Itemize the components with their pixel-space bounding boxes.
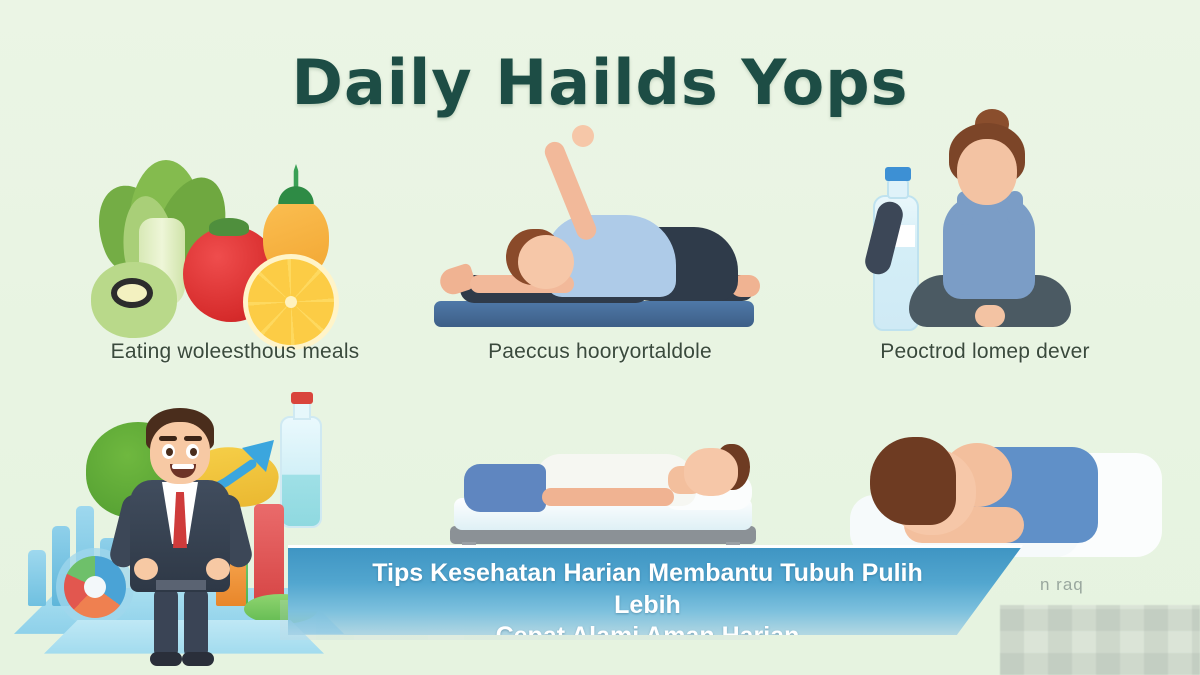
orange-slice-icon bbox=[243, 254, 339, 350]
banner-line-1: Tips Kesehatan Harian Membantu Tubuh Pul… bbox=[342, 558, 953, 621]
page-title: Daily Hailds Yops bbox=[0, 46, 1200, 119]
pixelated-censor-block bbox=[1000, 605, 1200, 675]
person-stretching-on-yoga-mat-illustration bbox=[430, 125, 760, 340]
tip-caption-nutrition: Eating woleesthous meals bbox=[60, 340, 410, 364]
woman-meditating-with-water-bottle-illustration bbox=[865, 115, 1120, 340]
blanket bbox=[464, 464, 546, 512]
businessman-character bbox=[110, 408, 250, 666]
avocado-icon bbox=[91, 262, 177, 338]
headline-banner: Tips Kesehatan Harian Membantu Tubuh Pul… bbox=[288, 545, 1023, 635]
tip-caption-hydration: Peoctrod lomep dever bbox=[830, 340, 1140, 364]
fruits-vegetables-illustration bbox=[75, 150, 365, 340]
poster-canvas: Daily Hailds Yops Eating woleesthous mea… bbox=[0, 0, 1200, 675]
partial-watermark-text: n raq bbox=[1040, 575, 1084, 595]
yoga-mat bbox=[434, 301, 754, 327]
tip-caption-exercise: Paeccus hooryortaldole bbox=[420, 340, 780, 364]
